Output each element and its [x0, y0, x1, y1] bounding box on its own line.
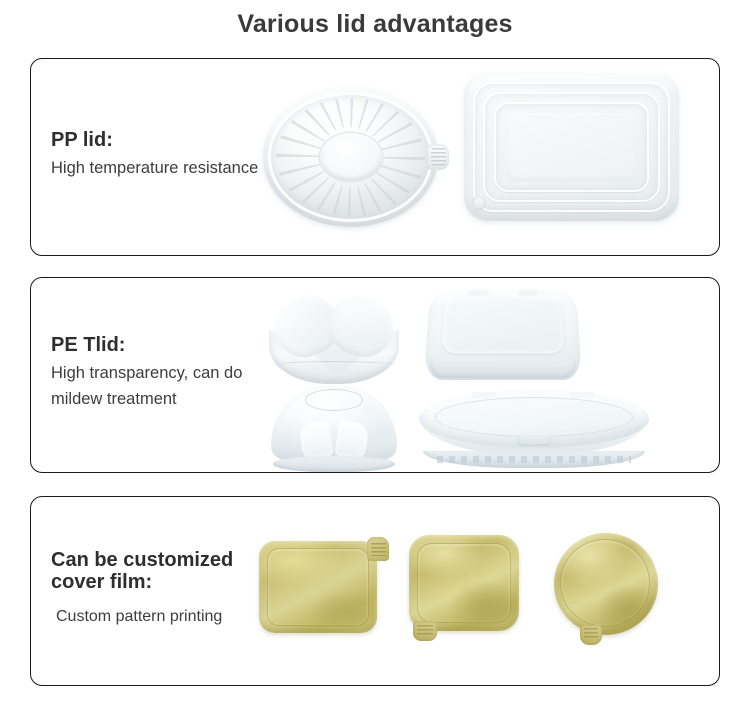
- pet-heart-lid-lip: [272, 361, 396, 370]
- pet-square-lid-nub-right: [517, 289, 539, 296]
- pp-rect-lid-vent: [472, 196, 486, 210]
- pp-rectangular-lid-image: [464, 73, 679, 221]
- pet-oval-lid-inner-ring: [435, 397, 633, 437]
- pet-heart-lid-image: [269, 292, 399, 384]
- pp-rect-lid-panel: [506, 113, 637, 181]
- pet-square-lid-panel: [441, 298, 564, 354]
- pet-oval-lid-skirt: [423, 451, 645, 468]
- card-pet-media: [259, 278, 719, 472]
- pet-oval-lid-nub-left: [471, 392, 497, 398]
- gold-rect-foil-inner-edge: [267, 548, 369, 626]
- card-cover-film-title: Can be customized cover film:: [51, 549, 233, 594]
- gold-round-foil-inner-edge: [560, 539, 650, 627]
- pp-round-lid-image: [263, 87, 438, 227]
- gold-square-foil-inner-edge: [417, 543, 511, 623]
- gold-rect-foil-tab: [367, 537, 389, 561]
- gold-square-foil-lid-image: [409, 535, 525, 641]
- pet-square-lid-nub-left: [467, 289, 489, 296]
- pet-heart-lid-lobes: [275, 292, 393, 358]
- card-pet-lid: PE Tlid: High transparency, can do milde…: [30, 277, 720, 473]
- pp-round-lid-center: [320, 133, 382, 181]
- gold-square-foil-tab: [413, 621, 437, 641]
- card-cover-film-description: Custom pattern printing: [51, 605, 233, 630]
- pet-dome-lid-top-ring: [305, 389, 363, 411]
- gold-round-foil-tab: [580, 625, 602, 645]
- gold-rectangular-foil-lid-image: [259, 537, 389, 633]
- pet-square-lid-skirt: [430, 361, 576, 378]
- gold-round-foil-lid-image: [554, 533, 666, 645]
- card-pp-lid: PP lid: High temperature resistance: [30, 58, 720, 256]
- card-cover-film-text-block: Can be customized cover film: Custom pat…: [51, 549, 233, 630]
- card-pet-title: PE Tlid:: [51, 334, 242, 356]
- pet-dome-lid-facet-left: [298, 420, 333, 460]
- pet-oval-lid-notch: [517, 436, 551, 446]
- card-cover-film: Can be customized cover film: Custom pat…: [30, 496, 720, 686]
- card-pet-description: High transparency, can do mildew treatme…: [51, 361, 242, 412]
- card-pp-description: High temperature resistance: [51, 156, 258, 182]
- card-pet-text-block: PE Tlid: High transparency, can do milde…: [51, 334, 242, 413]
- page-title: Various lid advantages: [0, 10, 750, 39]
- pet-oval-lid-image: [419, 390, 649, 470]
- card-pp-media: [259, 59, 719, 255]
- card-pp-title: PP lid:: [51, 129, 258, 151]
- card-cover-film-media: [259, 497, 719, 685]
- pet-oval-lid-nub-right: [569, 392, 595, 398]
- pet-dome-lid-image: [271, 386, 397, 472]
- pet-dome-lid-foot: [273, 456, 395, 472]
- pet-square-lid-image: [427, 288, 579, 380]
- pp-round-lid-tab: [427, 144, 449, 170]
- card-pp-text-block: PP lid: High temperature resistance: [51, 129, 258, 182]
- product-infographic: Various lid advantages PP lid: High temp…: [0, 0, 750, 713]
